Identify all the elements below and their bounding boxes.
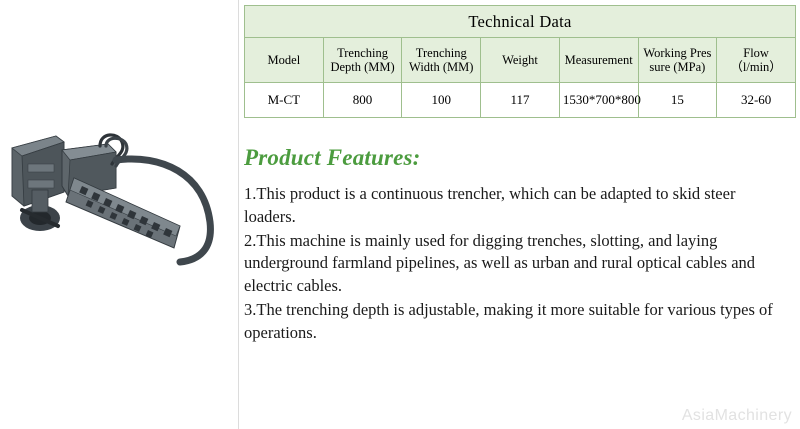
feature-item-1: 1.This product is a continuous trencher,… bbox=[244, 183, 784, 229]
feature-item-2: 2.This machine is mainly used for diggin… bbox=[244, 230, 784, 298]
header-trenching-width: TrenchingWidth (MM) bbox=[402, 38, 481, 83]
feature-item-3: 3.The trenching depth is adjustable, mak… bbox=[244, 299, 784, 345]
cell-trenching-depth: 800 bbox=[323, 83, 402, 118]
technical-data-table-wrapper: Technical Data Model TrenchingDepth (MM)… bbox=[244, 5, 796, 118]
table-row: M-CT 800 100 117 1530*700*800 15 32-60 bbox=[245, 83, 796, 118]
product-photo-panel bbox=[0, 0, 238, 429]
product-features-title: Product Features: bbox=[244, 145, 784, 171]
header-weight: Weight bbox=[481, 38, 560, 83]
content-column: Technical Data Model TrenchingDepth (MM)… bbox=[238, 0, 800, 429]
header-trenching-depth: TrenchingDepth (MM) bbox=[323, 38, 402, 83]
cell-model: M-CT bbox=[245, 83, 324, 118]
technical-data-table: Technical Data Model TrenchingDepth (MM)… bbox=[244, 5, 796, 118]
trencher-product-image bbox=[4, 130, 232, 270]
table-title-row: Technical Data bbox=[245, 6, 796, 38]
product-features-section: Product Features: 1.This product is a co… bbox=[244, 145, 784, 345]
cell-trenching-width: 100 bbox=[402, 83, 481, 118]
cell-flow: 32-60 bbox=[717, 83, 796, 118]
header-measurement: Measurement bbox=[559, 38, 638, 83]
cell-weight: 117 bbox=[481, 83, 560, 118]
header-working-pressure: Working Pressure (MPa) bbox=[638, 38, 717, 83]
header-flow: Flow（l/min） bbox=[717, 38, 796, 83]
table-title: Technical Data bbox=[245, 6, 796, 38]
header-model: Model bbox=[245, 38, 324, 83]
product-spec-page: Technical Data Model TrenchingDepth (MM)… bbox=[0, 0, 800, 429]
cell-measurement: 1530*700*800 bbox=[559, 83, 638, 118]
table-header-row: Model TrenchingDepth (MM) TrenchingWidth… bbox=[245, 38, 796, 83]
watermark: AsiaMachinery bbox=[682, 407, 792, 425]
cell-working-pressure: 15 bbox=[638, 83, 717, 118]
